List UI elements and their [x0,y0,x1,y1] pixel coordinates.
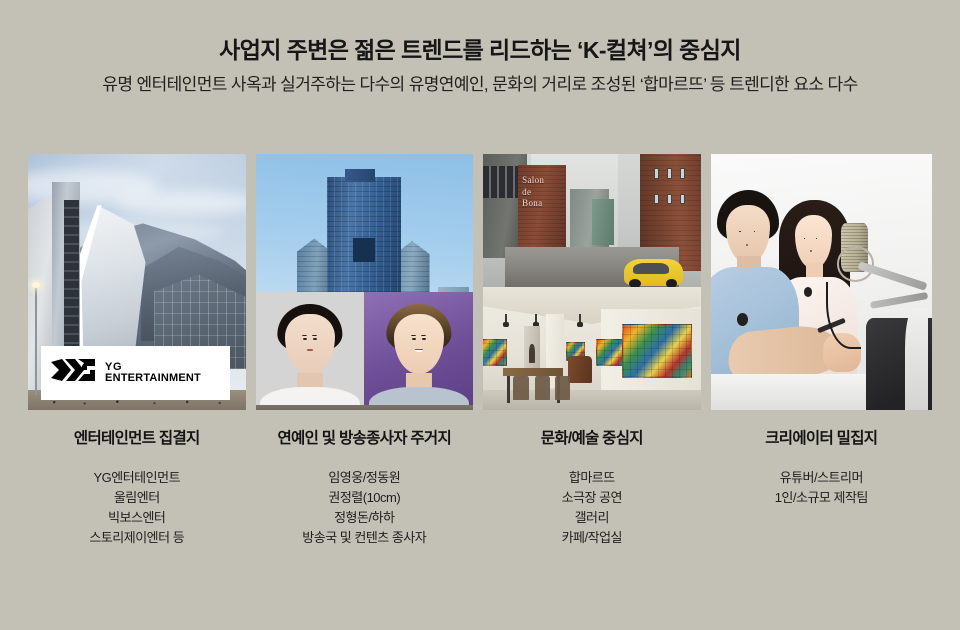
building-green [592,199,614,244]
face-shape [285,314,335,375]
list-item: 빅보스엔터 [28,508,246,528]
track-light-icon [579,314,581,324]
yg-logo-plate: YG ENTERTAINMENT [41,346,230,400]
yg-wordmark-line2: ENTERTAINMENT [105,373,201,384]
list-item: 방송국 및 컨텐츠 종사자 [256,528,474,548]
eye-left [303,338,307,340]
eyebrow-left [411,335,416,336]
eyebrow-right [421,335,426,336]
list-item: 유튜버/스트리머 [711,468,932,488]
artwork [483,339,507,366]
eye-left [739,231,740,232]
portrait-right [364,292,473,405]
slide-header: 사업지 주변은 젊은 트렌드를 리드하는 ‘K-컬쳐’의 중심지 유명 엔터테인… [0,0,960,95]
yg-wordmark: YG ENTERTAINMENT [105,362,201,384]
photo-street-and-gallery: SalondeBona [483,154,701,410]
gallery-table [503,368,564,375]
eye-right [313,338,317,340]
caption-heading: 문화/예술 중심지 [483,426,701,448]
eye-left [412,338,416,340]
shop-sign-text: SalondeBona [522,175,544,209]
list-item: YG엔터테인먼트 [28,468,246,488]
list-item: 합마르뜨 [483,468,701,488]
page-subtitle: 유명 엔터테인먼트 사옥과 실거주하는 다수의 유명연예인, 문화의 거리로 조… [0,74,960,95]
photo-residential-tower [256,154,474,410]
mouth-shape [307,349,313,351]
car-wheel [666,279,678,288]
column-culture-art: SalondeBona [483,154,701,549]
eye-right [422,338,426,340]
chair [513,376,528,401]
list-item: 권정렬(10cm) [256,488,474,508]
list-item: 스토리제이엔터 등 [28,528,246,548]
list-item: 1인/소규모 제작팀 [711,488,932,508]
window [680,194,685,205]
photo-yg-entertainment-building: YG ENTERTAINMENT [28,154,246,410]
window [654,168,659,179]
mouth-shape [415,349,423,352]
face-shape [394,314,444,375]
content-columns: YG ENTERTAINMENT 엔터테인먼트 집결지 YG엔터테인먼트 울림엔… [28,154,932,549]
shoulders-shape [369,387,469,405]
caption-list: 임영웅/정동원 권정렬(10cm) 정형돈/하하 방송국 및 컨텐츠 종사자 [256,468,474,549]
window [667,168,672,179]
celebrity-portrait-overlay [256,292,474,405]
mouth-shape [746,244,748,246]
list-item: 소극장 공연 [483,488,701,508]
window [654,194,659,205]
caption-heading: 연예인 및 방송종사자 주거지 [256,426,474,448]
window [667,194,672,205]
tower-crown [345,169,375,182]
photo-content-creators [711,154,932,410]
eyebrow-left [302,335,307,336]
caption-heading: 엔터테인먼트 집결지 [28,426,246,448]
car-window [633,263,669,274]
caption-list: 유튜버/스트리머 1인/소규모 제작팀 [711,468,932,508]
eye-left [804,238,805,239]
chair [555,376,570,401]
list-item: 갤러리 [483,508,701,528]
street-lamp-icon [35,287,37,395]
column-entertainment: YG ENTERTAINMENT 엔터테인먼트 집결지 YG엔터테인먼트 울림엔… [28,154,246,549]
upright-piano [568,356,592,383]
lapel-microphone-icon [737,313,748,326]
table-leg [507,376,510,403]
list-item: 카페/작업실 [483,528,701,548]
track-light-icon [505,314,507,324]
column-celebrity-residence: 연예인 및 방송종사자 주거지 임영웅/정동원 권정렬(10cm) 정형돈/하하… [256,154,474,549]
tower-notch [353,238,375,261]
portrait-left [256,292,365,405]
eyebrow-right [312,335,317,336]
artwork [622,324,692,378]
yellow-car [624,259,683,286]
caption-list: YG엔터테인먼트 울림엔터 빅보스엔터 스토리제이엔터 등 [28,468,246,549]
window [680,168,685,179]
caption-heading: 크리에이터 밀집지 [711,426,932,448]
mouth-shape [810,250,812,252]
eye-right [754,231,755,232]
gallery-sculpture [529,344,536,364]
caption-list: 합마르뜨 소극장 공연 갤러리 카페/작업실 [483,468,701,549]
list-item: 울림엔터 [28,488,246,508]
page-title: 사업지 주변은 젊은 트렌드를 리드하는 ‘K-컬쳐’의 중심지 [0,36,960,65]
list-item: 임영웅/정동원 [256,468,474,488]
column-creators: 크리에이터 밀집지 유튜버/스트리머 1인/소규모 제작팀 [711,154,932,549]
shoulders-shape [260,387,360,405]
photo-gallery-interior [483,287,701,410]
chair [535,376,550,401]
yg-logo-icon [51,357,97,388]
ring-light-icon [905,308,927,410]
list-item: 정형돈/하하 [256,508,474,528]
photo-street-scene: SalondeBona [483,154,701,287]
eye-right [816,238,817,239]
track-light-icon [535,314,537,324]
car-wheel [629,279,641,288]
